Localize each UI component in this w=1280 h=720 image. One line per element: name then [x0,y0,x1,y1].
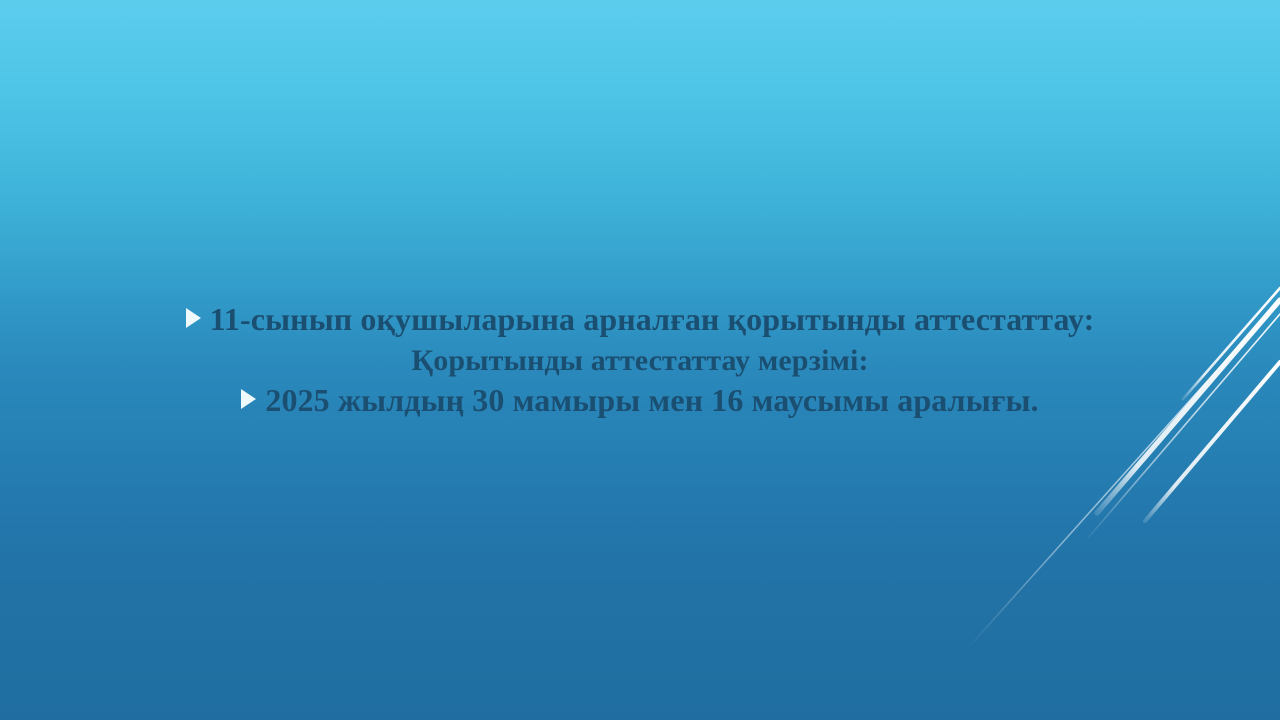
triangle-right-icon [241,389,256,409]
triangle-right-icon [186,308,201,328]
slide-text-block: 11-сынып оқушыларына арналған қорытынды … [0,0,1280,720]
slide-line-1-text: 11-сынып оқушыларына арналған қорытынды … [210,301,1095,337]
slide-line-3: 2025 жылдың 30 мамыры мен 16 маусымы ара… [60,380,1220,422]
slide-line-1: 11-сынып оқушыларына арналған қорытынды … [60,299,1220,341]
slide-line-2-text: Қорытынды аттестаттау мерзімі: [411,344,868,377]
presentation-slide: 11-сынып оқушыларына арналған қорытынды … [0,0,1280,720]
slide-line-2: Қорытынды аттестаттау мерзімі: [60,341,1220,380]
slide-line-3-text: 2025 жылдың 30 мамыры мен 16 маусымы ара… [265,382,1038,418]
